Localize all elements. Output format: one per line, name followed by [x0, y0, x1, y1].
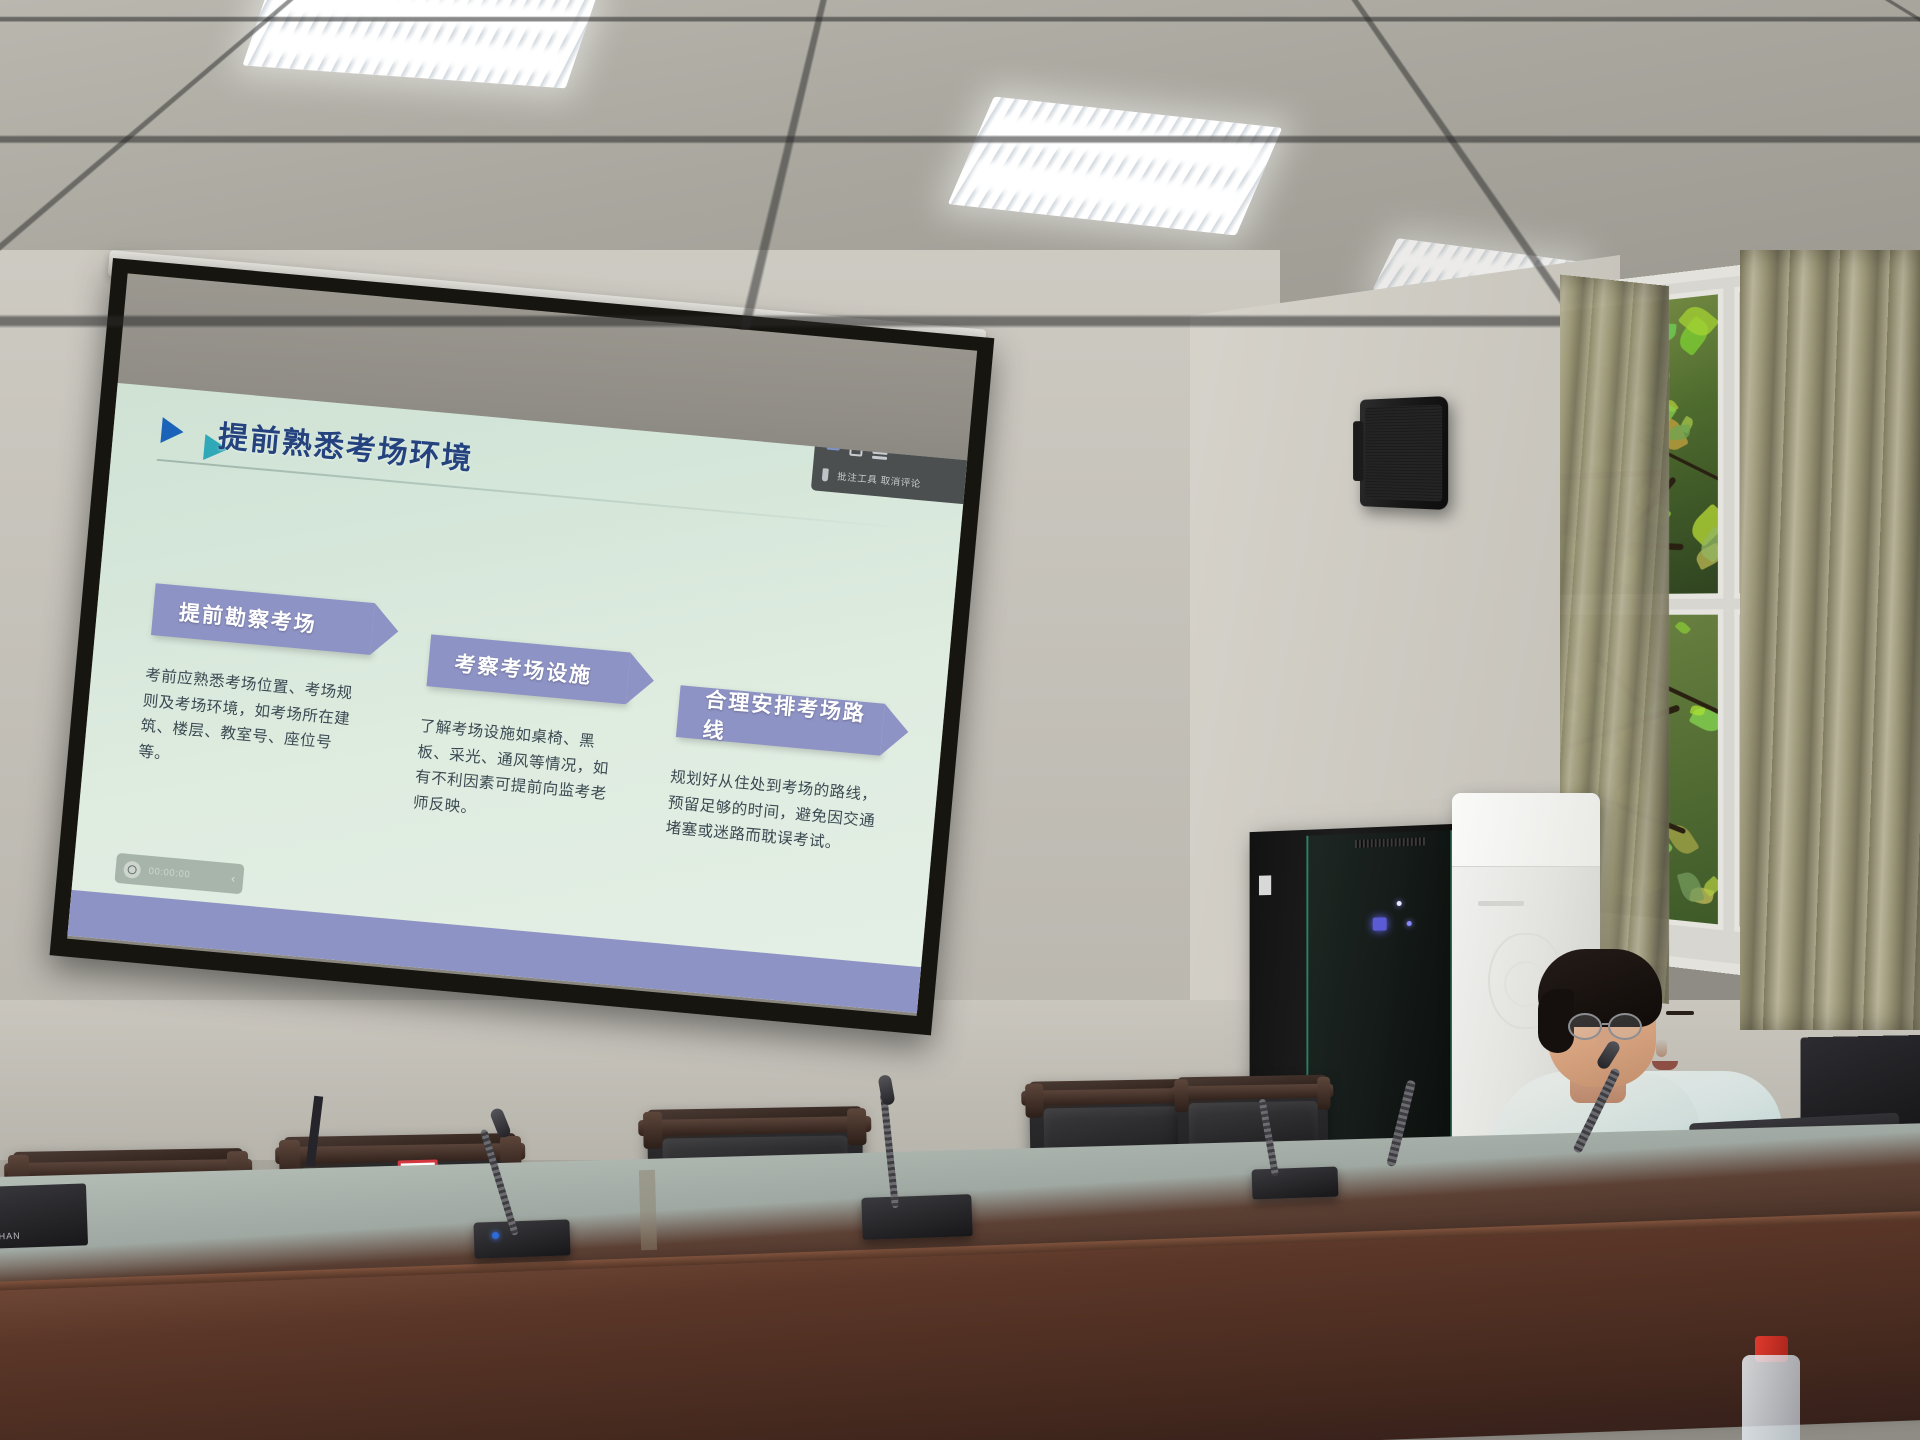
screen-share-bar: 您正在共享屏幕 结束共享 [576, 383, 746, 388]
person-eyebrow [1666, 1011, 1694, 1015]
square-icon[interactable] [849, 444, 863, 457]
glasses-lens-right [1608, 1013, 1642, 1040]
banner-label: 合理安排考场路线 [701, 684, 885, 760]
marker-icon[interactable] [822, 468, 829, 481]
list-icon[interactable] [872, 446, 888, 460]
rack-led-dot [1407, 921, 1412, 926]
room-photo-scene: 提前熟悉考场环境 提前勘察考场 考察考场设施 合理安排考场路线 考前应熟悉考场位… [0, 0, 1920, 1440]
table-seam [639, 1170, 657, 1250]
recording-control-bar[interactable]: 00:00:00 ‹ [114, 853, 244, 894]
annotation-toolbar[interactable]: 批注工具 取消评论 [811, 430, 967, 507]
record-circle-icon[interactable] [123, 860, 141, 878]
equipment-box: HAN [0, 1183, 88, 1248]
ac-brand-mark [1478, 901, 1524, 906]
wall-speaker [1360, 396, 1448, 510]
column-banner-2: 考察考场设施 [426, 634, 630, 704]
water-bottle [1742, 1355, 1800, 1440]
stop-share-button[interactable]: 结束共享 [685, 383, 739, 385]
rack-label [1259, 875, 1271, 895]
equipment-box-label: HAN [0, 1231, 21, 1242]
glasses-lens-left [1568, 1013, 1602, 1040]
column-body-2: 了解考场设施如桌椅、黑板、采光、通风等情况，如有不利因素可提前向监考老师反映。 [412, 714, 625, 834]
presentation-slide: 提前熟悉考场环境 提前勘察考场 考察考场设施 合理安排考场路线 考前应熟悉考场位… [67, 383, 967, 1013]
chevron-left-icon[interactable]: ‹ [231, 871, 236, 885]
column-body-1: 考前应熟悉考场位置、考场规则及考场环境，如考场所在建筑、楼层、教室号、座位号等。 [137, 663, 363, 785]
foliage-leaf [1675, 620, 1691, 636]
play-triangle-icon [160, 417, 184, 445]
title-underline [157, 459, 914, 530]
glasses-bridge [1602, 1023, 1610, 1025]
screen-surface: 提前熟悉考场环境 提前勘察考场 考察考场设施 合理安排考场路线 考前应熟悉考场位… [67, 273, 977, 1016]
timer-label: 00:00:00 [148, 865, 224, 883]
person-nose [1656, 1039, 1667, 1057]
column-banner-1: 提前勘察考场 [151, 583, 375, 655]
microphone-base [473, 1219, 570, 1258]
microphone-base [861, 1194, 972, 1240]
microphone-led [492, 1232, 499, 1239]
pen-icon[interactable] [827, 446, 840, 450]
ceiling-grid-line [0, 136, 1920, 143]
person-mouth [1652, 1061, 1678, 1070]
banner-label: 考察考场设施 [453, 648, 593, 690]
ac-top-panel [1452, 793, 1600, 867]
annotation-toolbar-label: 批注工具 取消评论 [837, 469, 922, 491]
foliage-leaf [1676, 871, 1704, 904]
window-area [1560, 250, 1920, 1030]
banner-label: 提前勘察考场 [178, 597, 318, 639]
foliage-leaf [1669, 424, 1690, 439]
projector-screen: 提前熟悉考场环境 提前勘察考场 考察考场设施 合理安排考场路线 考前应熟悉考场位… [50, 258, 995, 1035]
rack-led-indicator [1373, 917, 1387, 930]
microphone-base [1252, 1167, 1339, 1200]
column-body-3: 规划好从住处到考场的路线，预留足够的时间，避免因交通堵塞或迷路而耽误考试。 [664, 765, 880, 860]
curtain-right [1740, 250, 1920, 1030]
column-banner-3: 合理安排考场路线 [676, 685, 885, 755]
